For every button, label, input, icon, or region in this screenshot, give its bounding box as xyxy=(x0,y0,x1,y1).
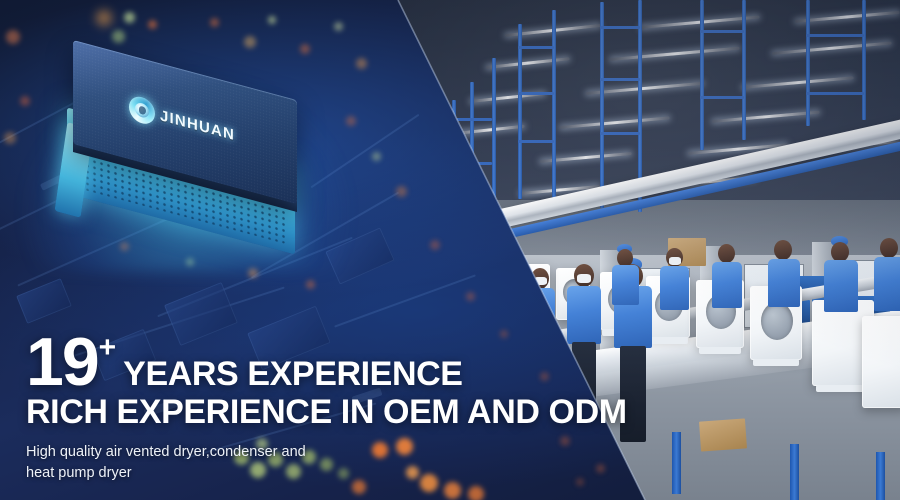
bokeh-light xyxy=(334,22,343,31)
bokeh-light xyxy=(306,280,315,289)
pcb-trace xyxy=(334,274,476,327)
pcb-component xyxy=(16,278,72,324)
bokeh-light xyxy=(468,486,484,500)
bokeh-light xyxy=(466,292,475,301)
bokeh-light xyxy=(96,10,112,26)
bokeh-light xyxy=(4,132,16,144)
sub-copy-line-1: High quality air vented dryer,condenser … xyxy=(26,442,386,463)
headline-line-1: 19 + YEARS EXPERIENCE xyxy=(26,333,646,393)
headline-line-2: RICH EXPERIENCE IN OEM AND ODM xyxy=(26,394,646,431)
years-label: YEARS EXPERIENCE xyxy=(123,360,462,393)
bokeh-light xyxy=(356,58,367,69)
bokeh-light xyxy=(210,18,219,27)
bokeh-light xyxy=(396,186,407,197)
sub-copy-line-2: heat pump dryer xyxy=(26,463,386,484)
promo-banner: JINHUAN 19 + YEARS EXPERIENCE RICH EXPER… xyxy=(0,0,900,500)
bokeh-light xyxy=(148,20,157,29)
bokeh-light xyxy=(112,30,125,43)
bokeh-light xyxy=(124,12,135,23)
bokeh-light xyxy=(300,44,310,54)
bokeh-light xyxy=(268,16,276,24)
headline-block: 19 + YEARS EXPERIENCE RICH EXPERIENCE IN… xyxy=(26,333,646,484)
sub-copy: High quality air vented dryer,condenser … xyxy=(26,442,386,484)
bokeh-light xyxy=(372,152,381,161)
bokeh-light xyxy=(244,36,256,48)
bokeh-light xyxy=(6,30,20,44)
bokeh-light xyxy=(444,482,461,499)
years-number: 19 xyxy=(26,333,98,393)
bokeh-light xyxy=(430,240,440,250)
plus-sign: + xyxy=(99,335,117,361)
cpu-chip: JINHUAN xyxy=(55,62,315,247)
